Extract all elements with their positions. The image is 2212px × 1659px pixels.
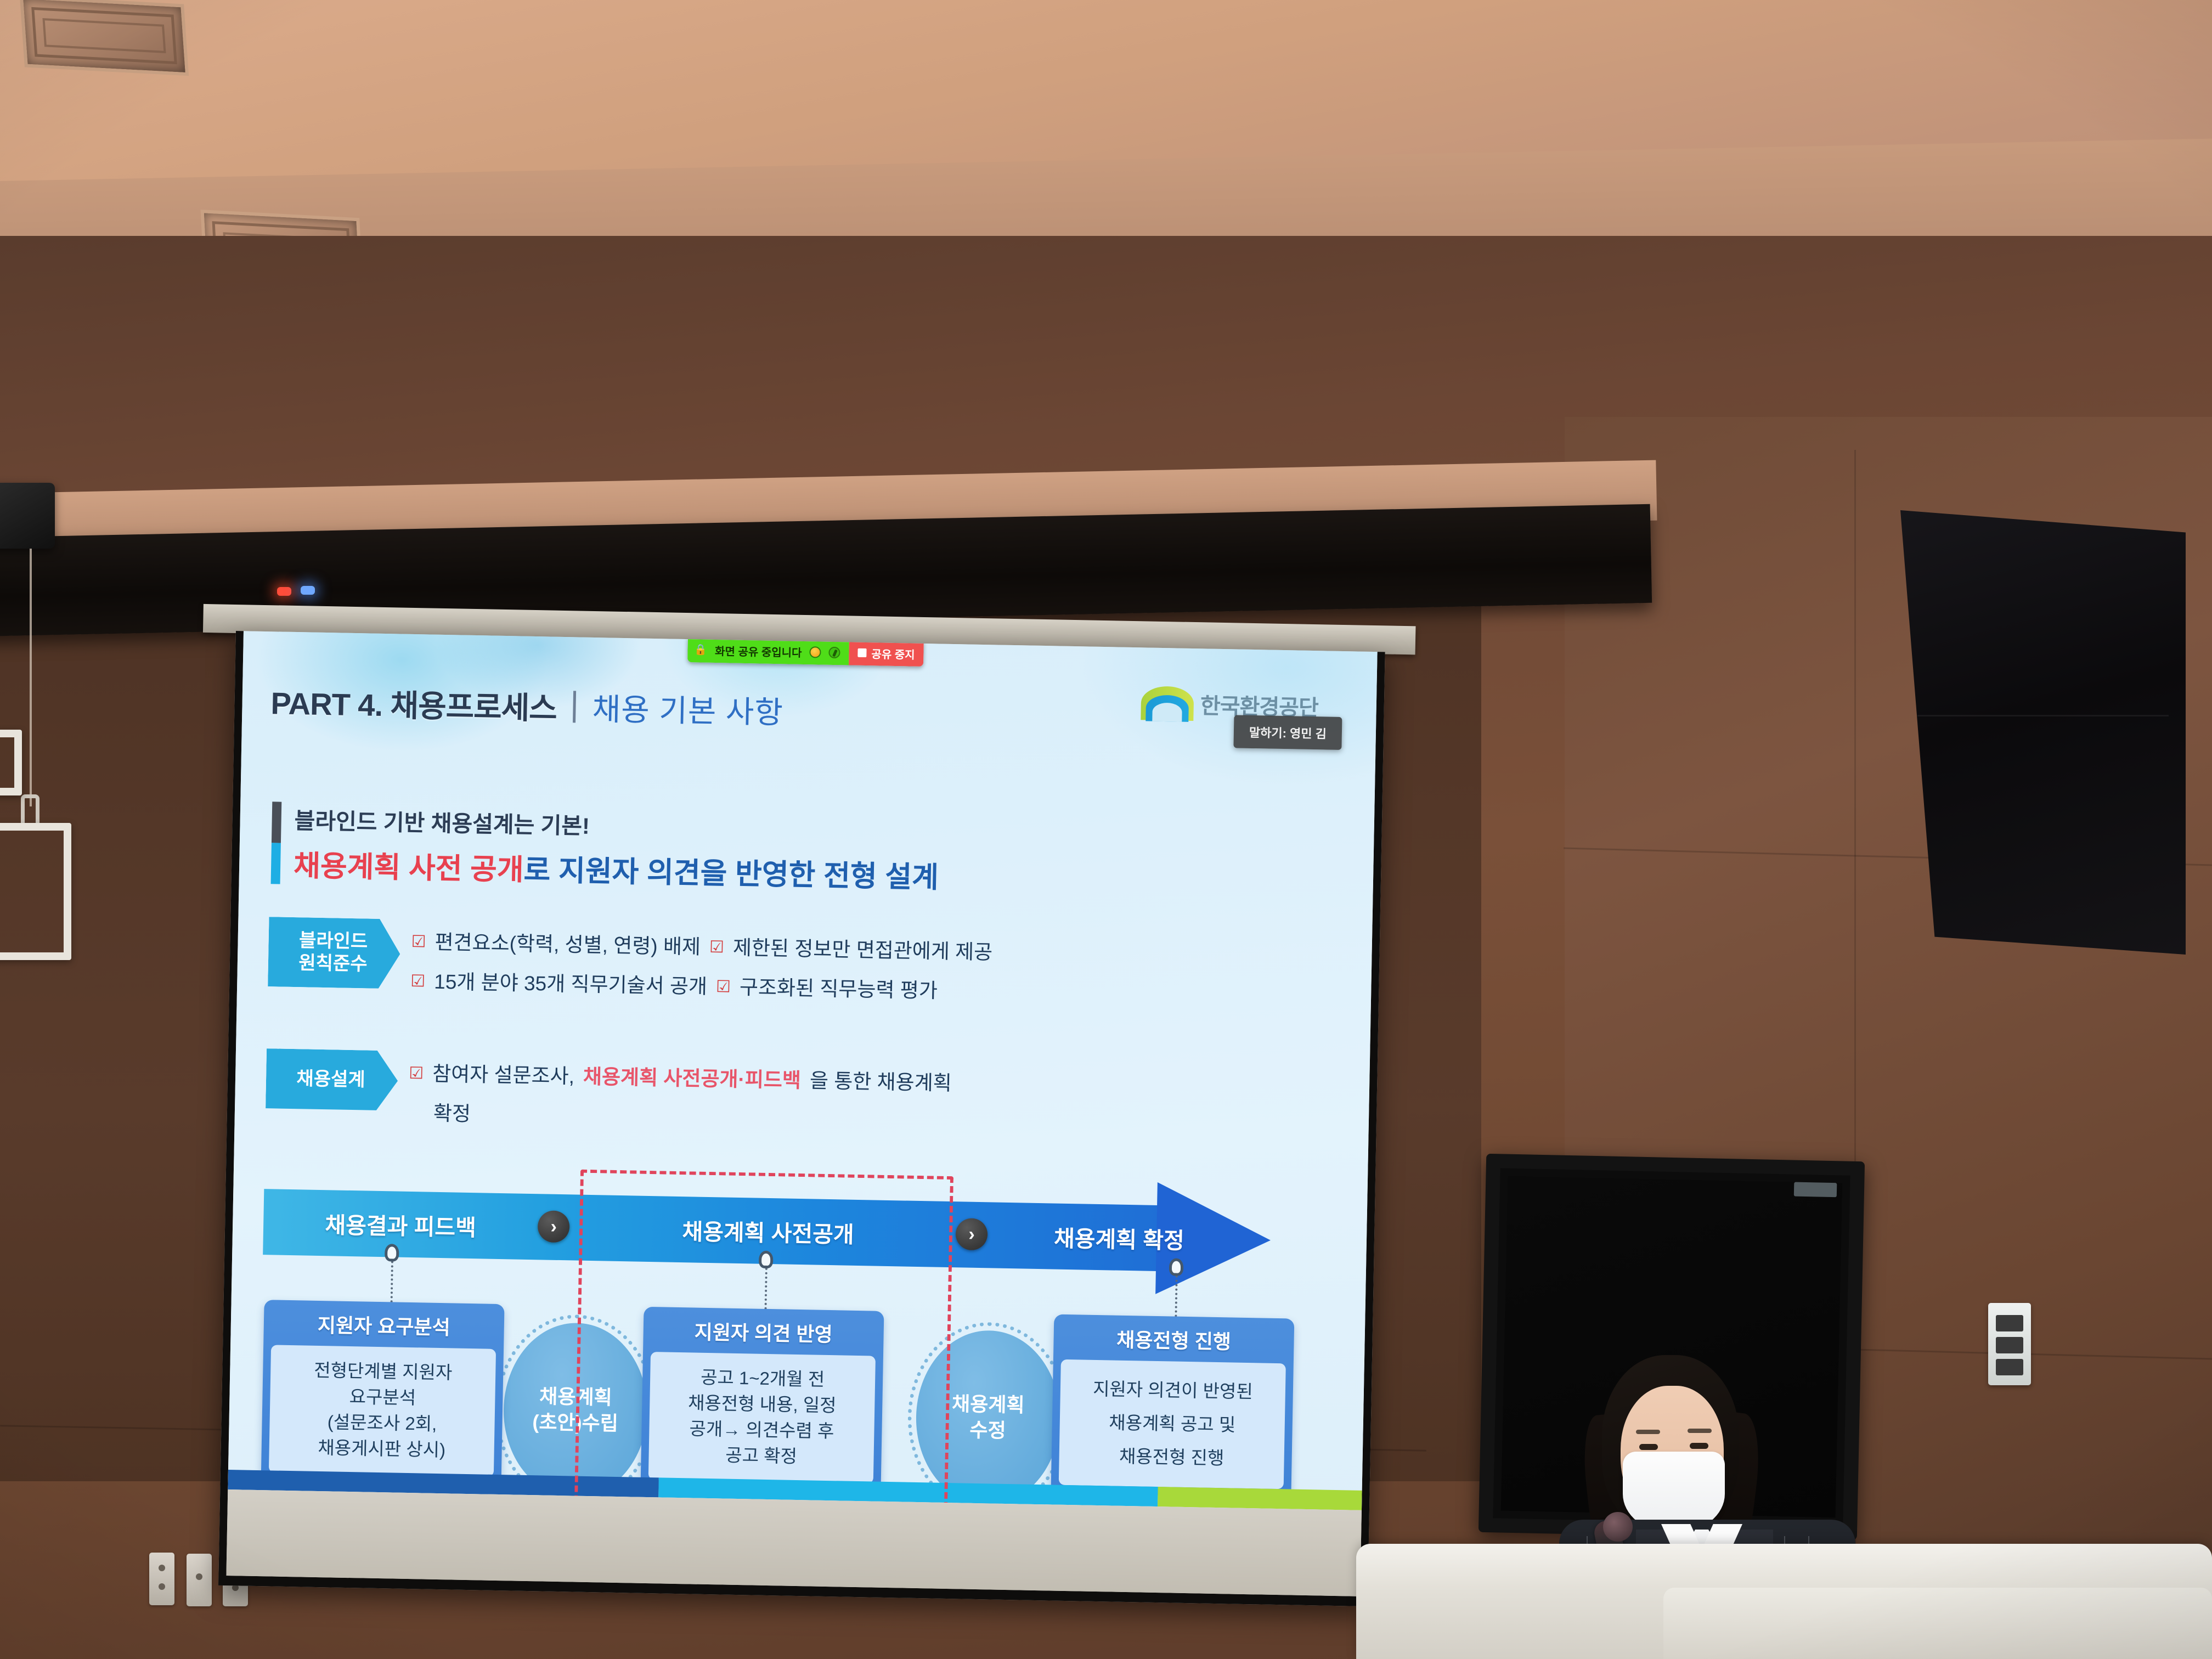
oval-line-2: 수정 bbox=[969, 1418, 1006, 1444]
headline-rest: 로 지원자 의견을 반영한 전형 설계 bbox=[523, 854, 939, 894]
wall-outlet[interactable] bbox=[149, 1553, 174, 1605]
share-status-label: 화면 공유 중입니다 bbox=[715, 642, 802, 660]
hanging-hook-icon bbox=[21, 794, 39, 827]
section-blind-principles: 블라인드 원칙준수 ☑ 편견요소(학력, 성별, 연령) 배제 ☑ 제한된 정보… bbox=[268, 917, 993, 1005]
lock-icon: 🔒 bbox=[694, 643, 707, 656]
slide-headline: 블라인드 기반 채용설계는 기본! 채용계획 사전 공개로 지원자 의견을 반영… bbox=[271, 802, 940, 896]
bullet-text: 을 통한 채용계획 bbox=[810, 1064, 952, 1096]
auditorium-scene: 🔒 화면 공유 중입니다 공유 중지 PART 4. 채용프로세스 채용 기본 … bbox=[0, 0, 2212, 1659]
bullet-continuation: 확정 bbox=[408, 1096, 951, 1136]
eye bbox=[1690, 1443, 1708, 1449]
active-speaker-chip: 말하기: 영민 김 bbox=[1233, 715, 1342, 750]
title-divider bbox=[573, 691, 576, 723]
presentation-slide: 🔒 화면 공유 중입니다 공유 중지 PART 4. 채용프로세스 채용 기본 … bbox=[228, 631, 1377, 1510]
headline-accent-bars bbox=[271, 802, 282, 884]
checkbox-icon: ☑ bbox=[709, 938, 725, 957]
bullet-text: 제한된 정보만 면접관에게 제공 bbox=[732, 931, 992, 966]
ceiling-vent-icon bbox=[20, 0, 189, 76]
bullet-highlight: 채용계획 사전공개·피드백 bbox=[583, 1060, 802, 1093]
process-card: 지원자 요구분석 전형단계별 지원자 요구분석 (설문조사 2회, 채용게시판 … bbox=[261, 1300, 505, 1486]
monitor-brand-badge bbox=[1794, 1182, 1837, 1198]
bullet-text: 구조화된 직무능력 평가 bbox=[740, 970, 938, 1004]
bullet-text: 15개 분야 35개 직무기술서 공개 bbox=[434, 965, 708, 1000]
lectern-top bbox=[1663, 1588, 2212, 1659]
eyebrow bbox=[1636, 1430, 1660, 1434]
section-recruit-design: 채용설계 ☑ 참여자 설문조사, 채용계획 사전공개·피드백 을 통한 채용계획… bbox=[266, 1048, 952, 1136]
hanging-frame bbox=[0, 823, 71, 960]
checkbox-icon: ☑ bbox=[716, 977, 731, 996]
headline-highlight: 채용계획 사전 공개 bbox=[294, 850, 524, 887]
bullet-row: ☑ 편견요소(학력, 성별, 연령) 배제 ☑ 제한된 정보만 면접관에게 제공 bbox=[411, 925, 993, 965]
annotate-icon[interactable] bbox=[809, 646, 821, 658]
projection-screen-assembly: 🔒 화면 공유 중입니다 공유 중지 PART 4. 채용프로세스 채용 기본 … bbox=[218, 631, 1385, 1606]
ceiling-projector-icon bbox=[0, 483, 55, 549]
connector-node bbox=[1169, 1258, 1184, 1276]
logo-arc-icon bbox=[1141, 686, 1194, 721]
section-tag-blind: 블라인드 원칙준수 bbox=[268, 917, 400, 989]
section-tag-design: 채용설계 bbox=[266, 1048, 398, 1111]
headline-line-2: 채용계획 사전 공개로 지원자 의견을 반영한 전형 설계 bbox=[294, 843, 939, 896]
bullet-row: ☑ 참여자 설문조사, 채용계획 사전공개·피드백 을 통한 채용계획 bbox=[409, 1057, 952, 1096]
slide-title-main: PART 4. 채용프로세스 bbox=[270, 679, 557, 729]
bullet-text: 편견요소(학력, 성별, 연령) 배제 bbox=[435, 926, 701, 960]
arrow-step-1: 채용결과 피드백 bbox=[263, 1189, 538, 1260]
eyebrow bbox=[1688, 1429, 1712, 1433]
hanging-frame bbox=[0, 730, 22, 795]
section-tag-blind-l1: 블라인드 bbox=[299, 930, 368, 952]
ceiling-speaker bbox=[1900, 510, 2186, 955]
section-tag-blind-l2: 원칙준수 bbox=[298, 953, 368, 975]
card-heading: 지원자 요구분석 bbox=[263, 1300, 504, 1349]
checkbox-icon: ☑ bbox=[410, 972, 426, 991]
connector-node bbox=[385, 1244, 399, 1261]
stop-square-icon bbox=[857, 648, 866, 657]
process-card: 채용전형 진행 지원자 의견이 반영된 채용계획 공고 및 채용전형 진행 bbox=[1051, 1314, 1294, 1498]
slide-title: PART 4. 채용프로세스 채용 기본 사항 bbox=[270, 679, 784, 732]
card-body: 전형단계별 지원자 요구분석 (설문조사 2회, 채용게시판 상시) bbox=[269, 1345, 496, 1477]
section-tag-design-label: 채용설계 bbox=[296, 1068, 365, 1090]
pen-icon[interactable] bbox=[828, 646, 840, 658]
oval-line-1: 채용계획 bbox=[952, 1391, 1025, 1418]
status-led-blue-icon bbox=[301, 586, 315, 595]
stop-share-label: 공유 중지 bbox=[871, 645, 915, 662]
highlight-dashed-box bbox=[574, 1170, 953, 1510]
headline-line-1: 블라인드 기반 채용설계는 기본! bbox=[294, 802, 940, 847]
wall-outlet[interactable] bbox=[187, 1554, 212, 1606]
card-heading: 채용전형 진행 bbox=[1053, 1314, 1294, 1364]
eye bbox=[1639, 1444, 1658, 1450]
slide-title-sub: 채용 기본 사항 bbox=[592, 685, 784, 732]
status-led-red-icon bbox=[277, 587, 291, 596]
bullet-text: 참여자 설문조사, bbox=[432, 1057, 575, 1090]
checkbox-icon: ☑ bbox=[409, 1064, 424, 1083]
wall-control-plate[interactable] bbox=[1988, 1303, 2031, 1385]
share-status-pill[interactable]: 🔒 화면 공유 중입니다 bbox=[687, 637, 849, 665]
stop-share-button[interactable]: 공유 중지 bbox=[849, 640, 924, 666]
checkbox-icon: ☑ bbox=[411, 932, 426, 951]
card-body: 지원자 의견이 반영된 채용계획 공고 및 채용전형 진행 bbox=[1059, 1359, 1286, 1489]
bullet-row: ☑ 15개 분야 35개 직무기술서 공개 ☑ 구조화된 직무능력 평가 bbox=[410, 964, 992, 1005]
hanging-wire bbox=[30, 549, 32, 806]
arrow-step-3: 채용계획 확정 bbox=[998, 1203, 1240, 1273]
